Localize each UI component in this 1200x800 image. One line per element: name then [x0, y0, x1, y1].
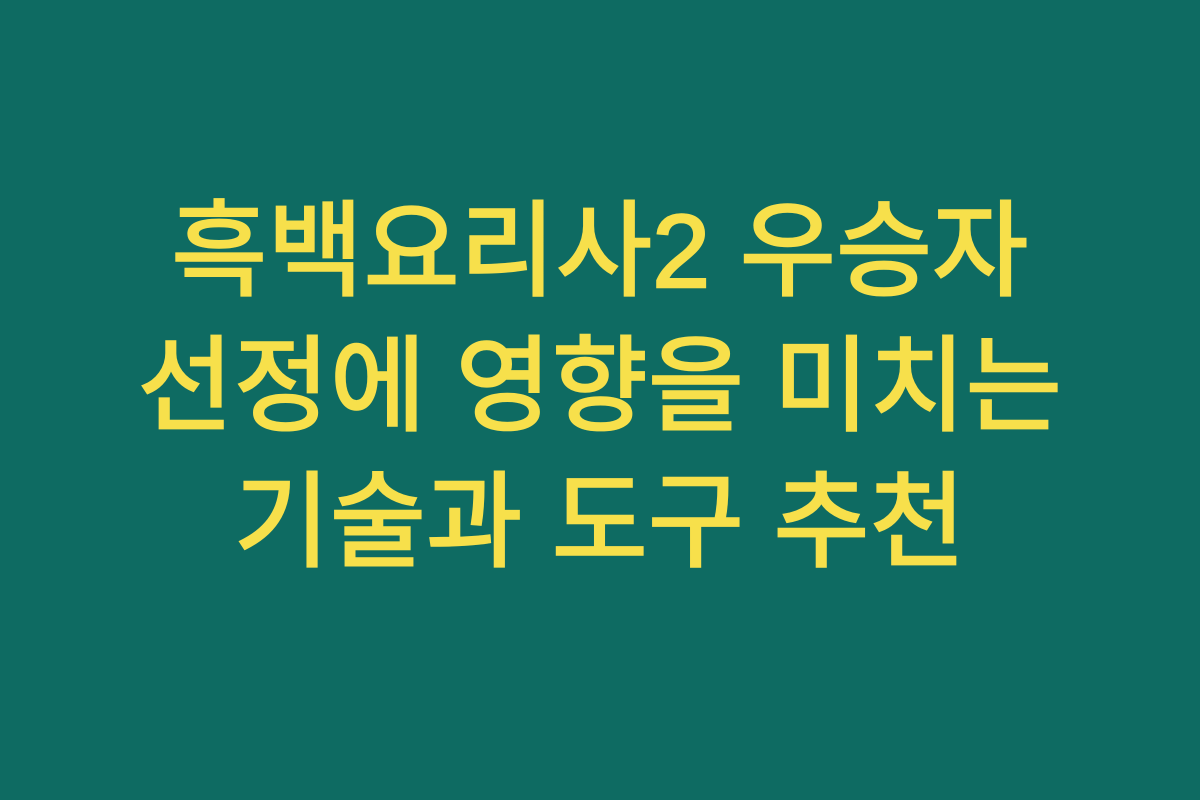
title-block: 흑백요리사2 우승자 선정에 영향을 미치는 기술과 도구 추천 [70, 185, 1130, 591]
page-title: 흑백요리사2 우승자 선정에 영향을 미치는 기술과 도구 추천 [86, 185, 1114, 591]
thumbnail-card: 흑백요리사2 우승자 선정에 영향을 미치는 기술과 도구 추천 [0, 0, 1200, 800]
